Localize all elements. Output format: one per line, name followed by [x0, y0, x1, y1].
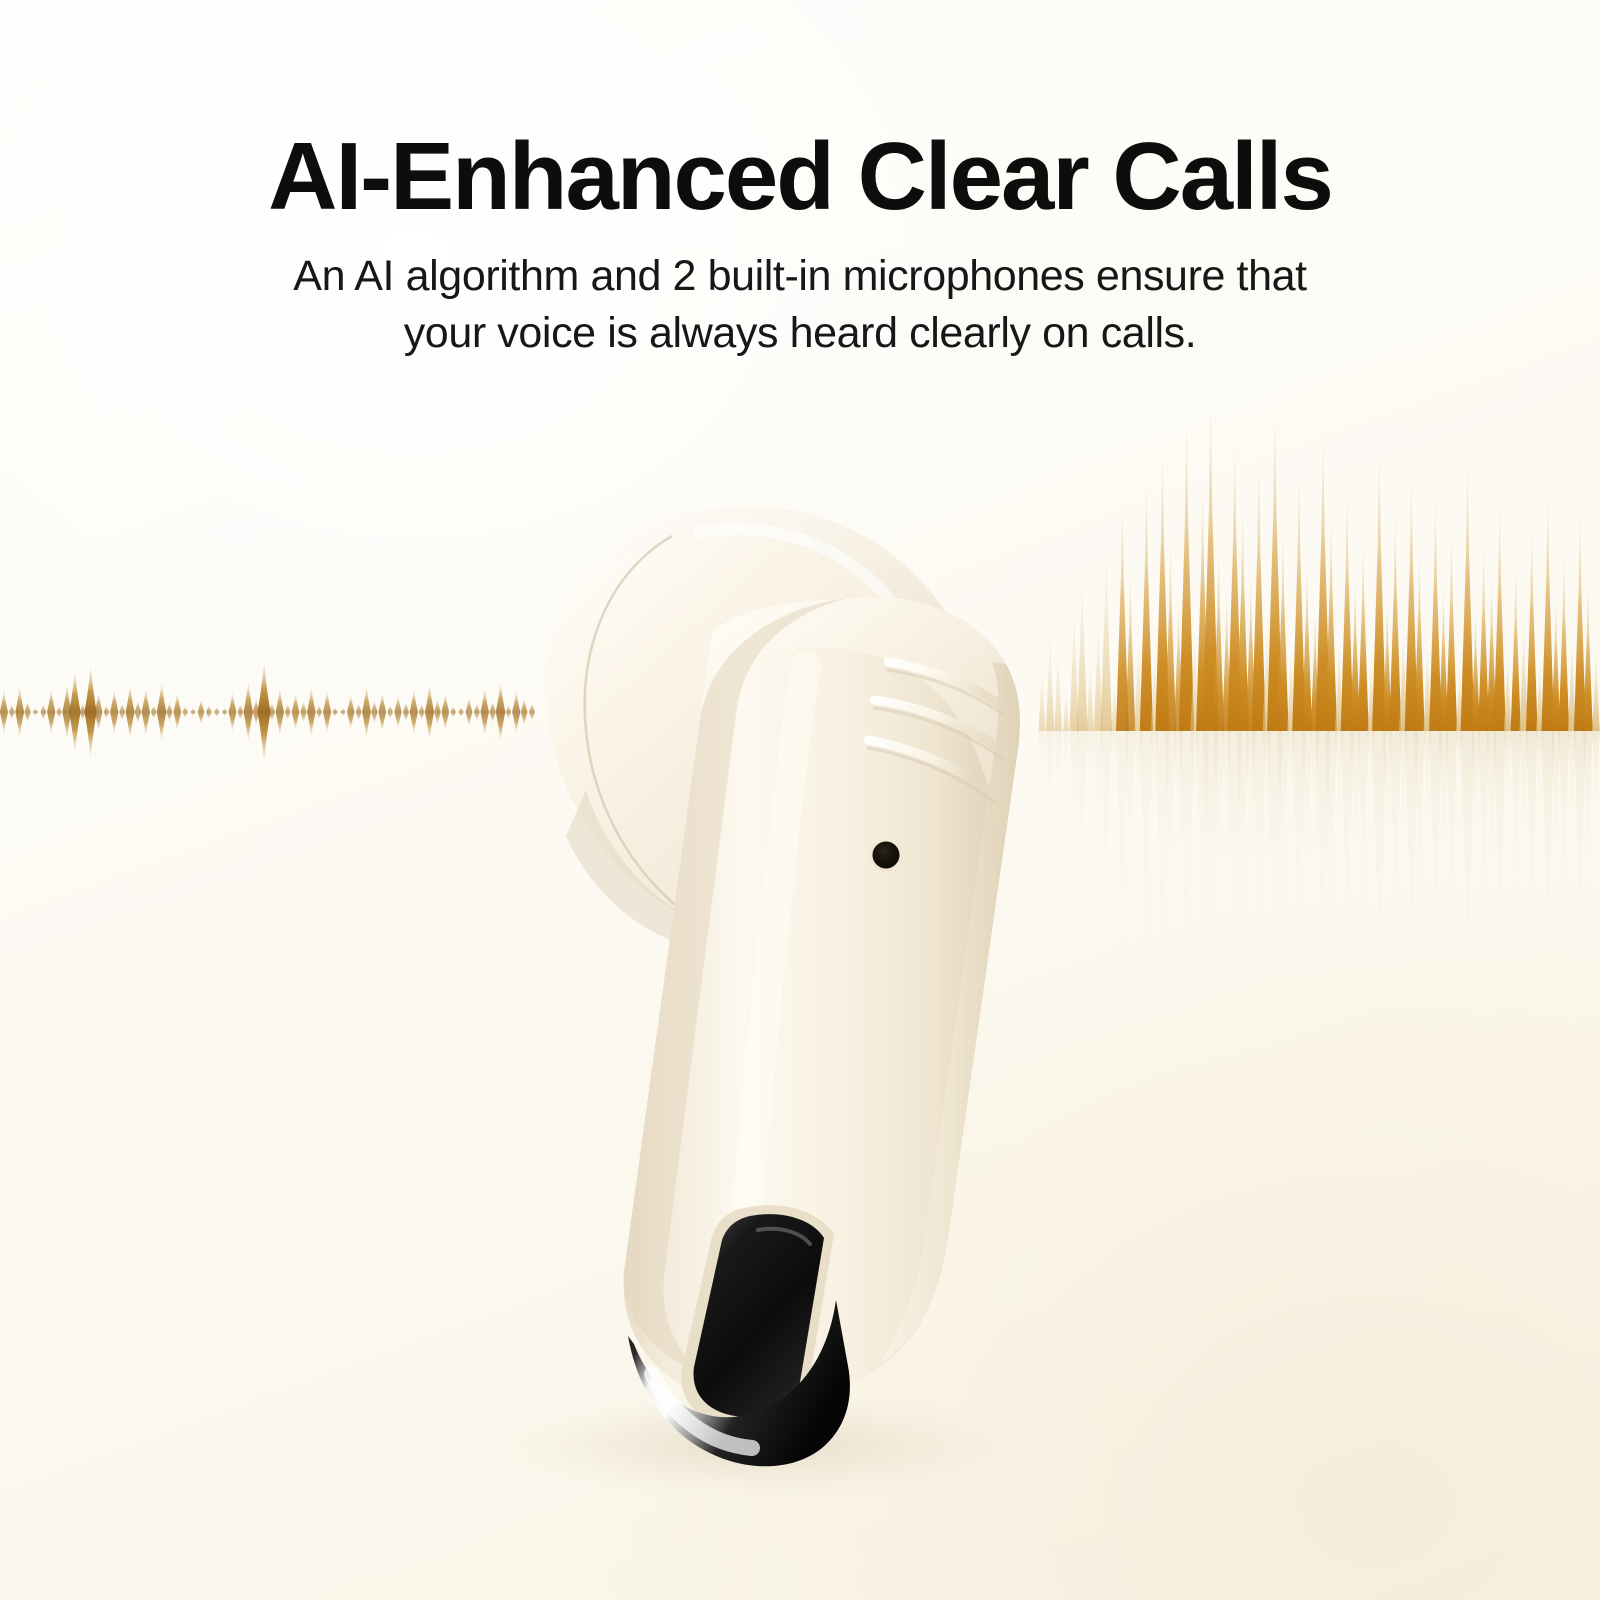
- waveform-spindle: [198, 699, 205, 725]
- waveform-spike: [1267, 389, 1283, 731]
- waveform-spike: [1368, 645, 1375, 731]
- waveform-spike: [1094, 597, 1103, 731]
- waveform-spike-reflection: [1325, 731, 1337, 1016]
- waveform-spindle: [307, 687, 316, 737]
- waveform-spindle: [466, 697, 473, 727]
- waveform-spindle: [451, 706, 456, 718]
- waveform-spindle: [142, 688, 150, 736]
- waveform-spindle: [419, 704, 425, 720]
- waveform-spike: [1471, 599, 1480, 731]
- waveform-spike-reflection: [1341, 731, 1354, 1051]
- waveform-spike-reflection: [1439, 731, 1449, 926]
- waveform-spindle: [490, 701, 496, 723]
- waveform-spike-reflection: [1263, 731, 1271, 884]
- groove-shadow-2: [874, 708, 1004, 760]
- waveform-spike-reflection: [1237, 731, 1249, 1029]
- waveform-spike: [1325, 503, 1337, 731]
- waveform-spindle: [174, 693, 182, 731]
- waveform-spindle: [33, 708, 38, 716]
- waveform-spike-reflection: [1574, 731, 1586, 1019]
- groove-line-1: [888, 662, 1002, 706]
- mic-hole-aperture: [873, 842, 900, 869]
- waveform-spike-reflection: [1094, 731, 1103, 899]
- waveform-spindle: [69, 671, 80, 753]
- bulb-body: [545, 506, 988, 950]
- waveform-spike: [1116, 483, 1129, 731]
- waveform-spindle: [62, 684, 71, 740]
- waveform-spike-reflection: [1583, 731, 1593, 931]
- touch-panel-surface: [694, 1214, 824, 1417]
- waveform-spike: [1372, 433, 1386, 731]
- waveform-spike-reflection: [1100, 731, 1111, 1000]
- bulb-shading: [566, 790, 782, 953]
- waveform-spindle: [356, 703, 362, 721]
- waveform-spike-reflection: [1287, 731, 1295, 851]
- waveform-spindle: [292, 693, 300, 731]
- waveform-spike: [1155, 431, 1169, 731]
- waveform-spike: [1213, 535, 1224, 731]
- waveform-spindle: [506, 705, 512, 719]
- mic-hole-rim: [871, 841, 902, 872]
- waveform-spike: [1592, 635, 1600, 731]
- waveform-spike: [1190, 613, 1198, 731]
- waveform-spike: [1252, 441, 1266, 731]
- waveform-spike-reflection: [1478, 731, 1489, 979]
- waveform-spike-reflection: [1190, 731, 1198, 879]
- waveform-spike: [1196, 469, 1209, 731]
- waveform-spike: [1341, 475, 1354, 731]
- waveform-spike: [1519, 603, 1528, 731]
- waveform-spike: [1222, 581, 1231, 731]
- waveform-spindle: [521, 698, 528, 726]
- waveform-spindle: [222, 708, 227, 716]
- stem-right-edge: [880, 662, 1020, 1364]
- waveform-spindle: [258, 662, 271, 762]
- waveform-spike: [1263, 609, 1271, 731]
- waveform-spike-reflection: [1487, 731, 1497, 936]
- waveform-spike-reflection: [1069, 731, 1078, 916]
- waveform-spike: [1446, 519, 1457, 731]
- waveform-spike-reflection: [1316, 731, 1331, 1101]
- waveform-spike: [1125, 559, 1135, 731]
- waveform-spike: [1039, 653, 1046, 731]
- waveform-large-output: [1039, 379, 1600, 731]
- waveform-spindle: [15, 686, 24, 738]
- bulb-seam: [585, 536, 724, 938]
- waveform-spindle: [157, 682, 167, 742]
- waveform-spike-reflection: [1311, 731, 1320, 894]
- waveform-spike-reflection: [1526, 731, 1538, 1004]
- groove-line-3: [868, 740, 994, 794]
- waveform-spindle: [387, 705, 393, 719]
- waveform-spindle: [378, 692, 386, 732]
- waveform-spike: [1246, 563, 1256, 731]
- waveform-spindle: [110, 689, 118, 735]
- waveform-spike: [1487, 567, 1497, 731]
- waveform-spindle: [276, 688, 284, 736]
- waveform-spindle: [434, 699, 441, 725]
- waveform-spike: [1335, 623, 1343, 731]
- waveform-spike: [1456, 657, 1463, 731]
- waveform-spike-reflection: [1292, 731, 1306, 1076]
- waveform-spike: [1227, 423, 1242, 731]
- waveform-spindle: [85, 666, 97, 758]
- waveform-spindle: [126, 685, 135, 739]
- waveform-spike-reflection: [1179, 731, 1194, 1101]
- groove-line-2: [874, 700, 1004, 752]
- waveform-spike: [1277, 517, 1288, 731]
- waveform-spike-reflection: [1471, 731, 1480, 896]
- waveform-spike-reflection: [1140, 731, 1153, 1066]
- waveform-spike: [1439, 575, 1449, 731]
- waveform-spike: [1203, 379, 1219, 731]
- waveform-spike-reflection: [1077, 731, 1088, 964]
- waveform-spindle: [332, 707, 337, 717]
- waveform-spike-reflection: [1541, 731, 1554, 1046]
- stem-shoulder: [700, 597, 1020, 870]
- waveform-spindle: [269, 702, 275, 722]
- waveform-spike: [1461, 445, 1475, 731]
- waveform-spindle: [9, 704, 15, 720]
- waveform-spike-reflection: [1203, 731, 1219, 1101]
- waveform-spike-reflection: [1424, 731, 1432, 856]
- waveform-spike-reflection: [1302, 731, 1312, 956]
- waveform-spike: [1292, 455, 1306, 731]
- waveform-spike-reflection: [1196, 731, 1209, 1059]
- waveform-spike: [1504, 639, 1511, 731]
- waveform-spike: [1316, 413, 1331, 731]
- waveform-spike-reflection: [1519, 731, 1528, 891]
- tip-body: [628, 1300, 850, 1466]
- subtitle-line-1: An AI algorithm and 2 built-in microphon…: [0, 248, 1600, 305]
- waveform-spindle: [214, 707, 219, 717]
- waveform-spike: [1134, 621, 1142, 731]
- waveform-spike: [1287, 635, 1295, 731]
- stem-highlight: [742, 666, 806, 1284]
- touch-panel: [681, 1205, 834, 1428]
- waveform-spike-reflection: [1277, 731, 1288, 999]
- waveform-spike-reflection: [1559, 731, 1570, 966]
- waveform-spike: [1478, 533, 1489, 731]
- waveform-spindle: [40, 704, 46, 720]
- waveform-spike: [1140, 463, 1153, 731]
- product-shadow: [495, 1394, 1025, 1498]
- waveform-spike: [1511, 555, 1521, 731]
- waveform-spindle: [206, 705, 212, 719]
- waveform-spindle: [80, 703, 86, 721]
- waveform-spike: [1583, 571, 1593, 731]
- waveform-spindle: [95, 692, 103, 732]
- waveform-spindle: [403, 702, 409, 722]
- tip-chrome-highlight: [652, 1374, 752, 1448]
- waveform-spike-reflection: [1246, 731, 1256, 941]
- waveform-spindle: [104, 705, 110, 719]
- waveform-spindle: [253, 698, 260, 726]
- waveform-spindle: [425, 684, 434, 740]
- waveform-spike: [1100, 516, 1111, 731]
- waveform-spike: [1536, 649, 1543, 731]
- waveform-spike: [1568, 625, 1576, 731]
- waveform-spike-reflection: [1592, 731, 1600, 851]
- waveform-spike-reflection: [1151, 731, 1159, 851]
- waveform-spike: [1383, 589, 1392, 731]
- waveform-spike: [1541, 479, 1554, 731]
- waveform-spike-reflection: [1350, 731, 1360, 936]
- bulb-highlight: [700, 529, 906, 622]
- waveform-spike-reflection: [1165, 731, 1176, 987]
- waveform-graphic: [0, 0, 1600, 1600]
- waveform-spike-reflection: [1414, 731, 1425, 969]
- waveform-spike: [1174, 589, 1183, 731]
- bulb-rim: [584, 506, 988, 752]
- waveform-spike: [1559, 543, 1570, 731]
- charging-contact-tip: [628, 1300, 850, 1466]
- waveform-spindle: [362, 686, 371, 738]
- waveform-spike-reflection: [1551, 731, 1560, 911]
- waveform-spike: [1551, 587, 1560, 731]
- waveform-spike: [1302, 551, 1312, 731]
- waveform-spike-reflection: [1368, 731, 1375, 839]
- waveform-spindle: [119, 703, 125, 721]
- stem-left-edge: [624, 598, 848, 1378]
- waveform-spindle: [442, 693, 450, 731]
- waveform-spike: [1389, 499, 1401, 731]
- waveform-spike-reflection: [1125, 731, 1135, 946]
- waveform-spike: [1069, 583, 1078, 731]
- subtitle-line-2: your voice is always heard clearly on ca…: [0, 305, 1600, 362]
- waveform-spindle: [340, 708, 345, 716]
- waveform-spike: [1358, 527, 1369, 731]
- waveform-spike: [1151, 635, 1159, 731]
- waveform-spindle: [410, 689, 418, 735]
- waveform-spike-reflection: [1399, 731, 1407, 879]
- waveform-spike-reflection: [1456, 731, 1463, 824]
- waveform-spike-reflection: [1054, 731, 1062, 851]
- waveform-spindle: [183, 706, 188, 718]
- waveform-spindle: [371, 700, 377, 724]
- waveform-spindle: [244, 682, 254, 742]
- earbud-bulb: [545, 506, 988, 954]
- page-subtitle: An AI algorithm and 2 built-in microphon…: [0, 248, 1600, 362]
- waveform-spindle: [481, 688, 489, 736]
- page-title: AI-Enhanced Clear Calls: [0, 126, 1600, 228]
- waveform-spike: [1399, 613, 1407, 731]
- waveform-spindle: [56, 706, 61, 718]
- waveform-spindle: [512, 690, 520, 734]
- waveform-spike: [1165, 526, 1176, 731]
- microphone-hole: [871, 841, 902, 872]
- waveform-spike: [1526, 513, 1538, 731]
- waveform-spike-reflection: [1429, 731, 1442, 1041]
- waveform-spike-reflection: [1383, 731, 1392, 909]
- waveform-spike: [1493, 491, 1505, 731]
- groove-shadow-3: [868, 748, 994, 802]
- waveform-spindle: [474, 703, 480, 721]
- waveform-spike-reflection: [1213, 731, 1224, 976]
- waveform-spindle: [229, 692, 237, 732]
- stem-grooves: [868, 662, 1004, 802]
- waveform-spike-reflection: [1568, 731, 1576, 864]
- touch-panel-glint: [758, 1229, 810, 1244]
- waveform-spike-reflection: [1063, 731, 1069, 796]
- waveform-spike-reflection: [1389, 731, 1401, 1021]
- waveform-spike-reflection: [1267, 731, 1283, 1101]
- waveform-spike: [1350, 567, 1360, 731]
- waveform-spike-reflection: [1358, 731, 1369, 986]
- background-glow: [0, 0, 1600, 1600]
- waveform-spike-reflection: [1134, 731, 1142, 869]
- waveform-spike: [1311, 601, 1320, 731]
- waveform-spike: [1429, 483, 1442, 731]
- product-image-earbud: [0, 0, 1600, 1600]
- earbud-stem: [624, 597, 1020, 1467]
- waveform-spike: [1054, 635, 1062, 731]
- waveform-spike-reflection: [1252, 731, 1266, 1094]
- waveform-small-input: [0, 662, 535, 762]
- waveform-spindle: [285, 704, 291, 720]
- waveform-spindle: [135, 700, 141, 724]
- marketing-banner: AI-Enhanced Clear Calls An AI algorithm …: [0, 0, 1600, 1600]
- waveform-spindle: [347, 694, 354, 730]
- waveform-spindle: [316, 705, 322, 719]
- waveform-spike-reflection: [1174, 731, 1183, 909]
- waveform-spike-reflection: [1227, 731, 1242, 1101]
- waveform-spike-reflection: [1405, 731, 1418, 1071]
- waveform-spike: [1179, 399, 1194, 731]
- waveform-spike-reflection: [1461, 731, 1475, 1089]
- waveform-spike-reflection: [1446, 731, 1457, 996]
- waveform-spike: [1087, 643, 1094, 731]
- waveform-spindle: [166, 702, 172, 722]
- waveform-spike: [1574, 501, 1586, 731]
- waveform-spike-reflection: [1504, 731, 1511, 846]
- waveform-spike-reflection: [1335, 731, 1343, 866]
- waveform-spindle: [496, 682, 506, 742]
- touch-panel-bezel: [681, 1205, 834, 1428]
- waveform-spike: [1414, 541, 1425, 731]
- waveform-spike: [1111, 671, 1117, 731]
- waveform-spike-reflection: [1493, 731, 1505, 1031]
- waveform-spike-reflection: [1155, 731, 1169, 1101]
- waveform-spindle: [394, 695, 401, 729]
- waveform-spindle: [300, 701, 306, 723]
- waveform-spike-reflection: [1039, 731, 1046, 829]
- waveform-spindle: [0, 690, 8, 734]
- waveform-spindle: [238, 704, 244, 720]
- stem-body: [624, 597, 1020, 1405]
- waveform-spike: [1077, 545, 1088, 731]
- waveform-spindle: [191, 708, 196, 716]
- waveform-reflection: [1039, 731, 1600, 1101]
- waveform-spike-reflection: [1087, 731, 1094, 841]
- waveform-spike-reflection: [1116, 731, 1129, 1041]
- waveform-spike-reflection: [1536, 731, 1543, 834]
- groove-shadow-1: [888, 670, 1002, 714]
- waveform-spike: [1063, 679, 1069, 731]
- waveform-spike: [1046, 611, 1054, 731]
- waveform-spike-reflection: [1046, 731, 1054, 881]
- waveform-spindle: [151, 705, 157, 719]
- waveform-spindle: [24, 701, 30, 723]
- waveform-spike-reflection: [1511, 731, 1521, 951]
- waveform-spike: [1424, 631, 1432, 731]
- waveform-spike-reflection: [1111, 731, 1117, 806]
- waveform-spike: [1237, 493, 1249, 731]
- waveform-spindle: [529, 703, 535, 721]
- waveform-spindle: [47, 689, 55, 735]
- waveform-spike: [1405, 459, 1418, 731]
- waveform-spike-reflection: [1372, 731, 1386, 1101]
- waveform-spindle: [458, 707, 463, 717]
- waveform-spindle: [323, 690, 331, 734]
- waveform-spike-reflection: [1222, 731, 1231, 919]
